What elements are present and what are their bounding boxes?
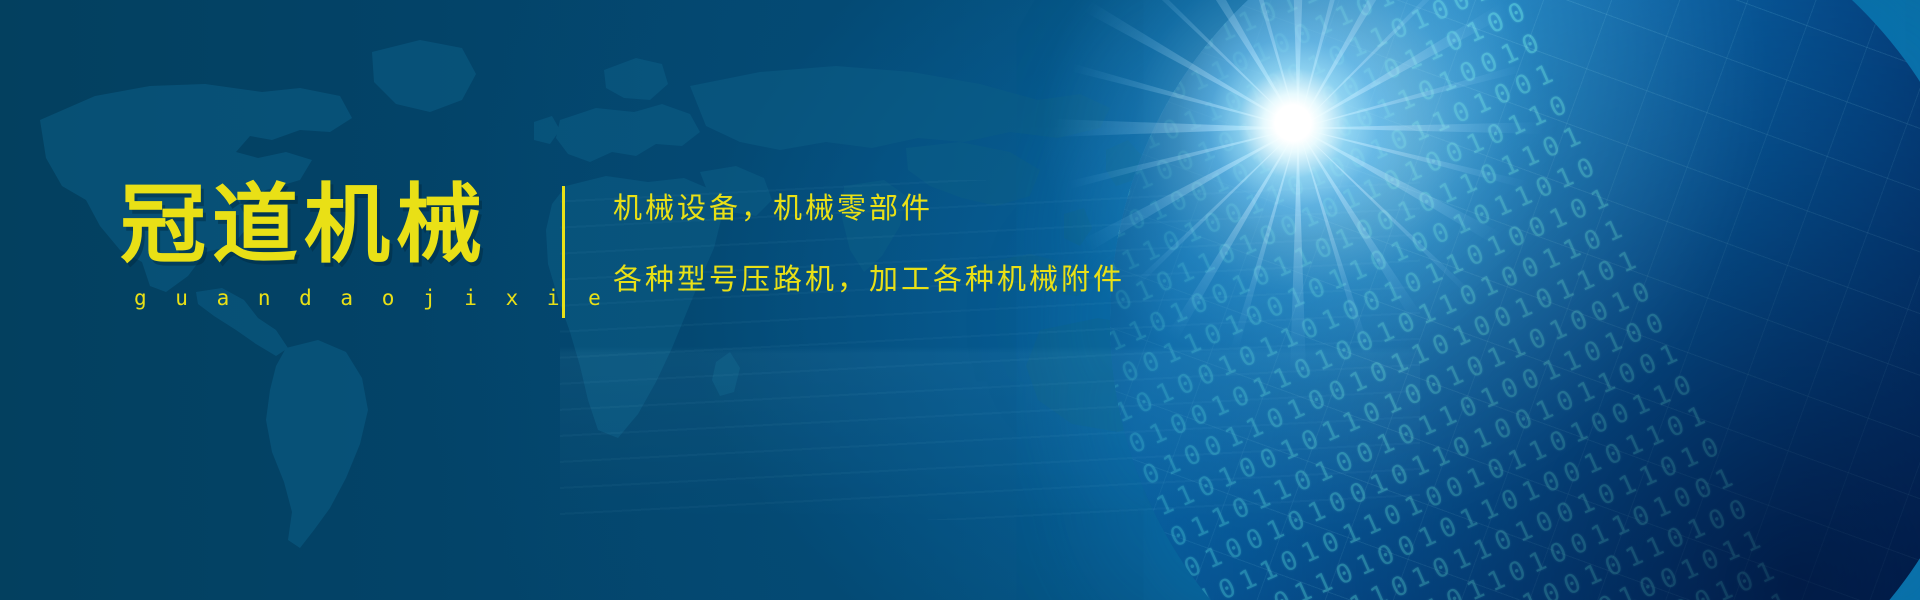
binary-digit-globe: 10010110010010100101101001011001 0110100… (1110, 0, 1920, 600)
hero-banner: 10010110010010100101101001011001 0110100… (0, 0, 1920, 600)
tagline-group: 机械设备，机械零部件 各种型号压路机，加工各种机械附件 (613, 180, 1125, 294)
tagline-primary: 机械设备，机械零部件 (613, 194, 1125, 223)
brand-title: 冠道机械 (120, 182, 540, 268)
vertical-divider (562, 186, 565, 318)
brand-logo: 冠道机械 g u a n d a o j i x i e (120, 180, 540, 310)
brand-pinyin: g u a n d a o j i x i e (120, 286, 540, 310)
banner-content: 冠道机械 g u a n d a o j i x i e 机械设备，机械零部件 … (120, 180, 1125, 328)
tagline-secondary: 各种型号压路机，加工各种机械附件 (613, 265, 1125, 294)
globe-edge-fade (1110, 0, 1920, 600)
